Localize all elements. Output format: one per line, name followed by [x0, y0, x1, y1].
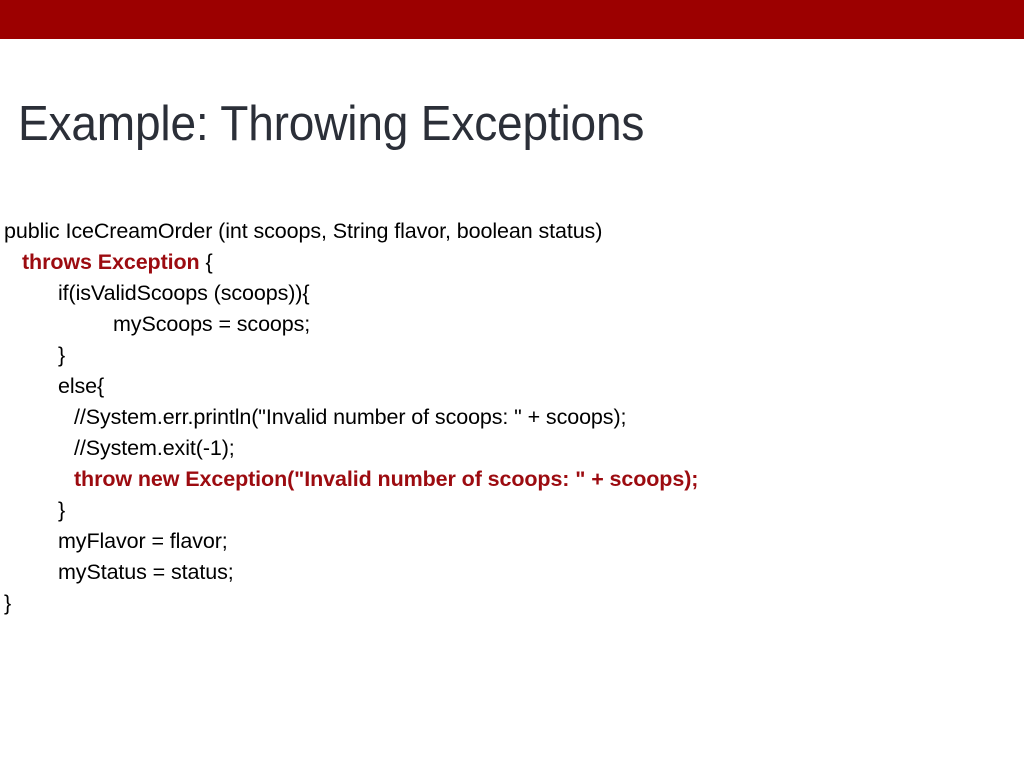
slide-canvas: Example: Throwing Exceptions public IceC…	[0, 0, 1024, 768]
code-token-plain: myFlavor = flavor;	[58, 529, 228, 553]
code-token-plain: }	[4, 591, 11, 615]
code-line: //System.exit(-1);	[0, 433, 1024, 464]
code-token-plain: myScoops = scoops;	[113, 312, 310, 336]
code-token-throw: throw new Exception("Invalid number of s…	[74, 467, 698, 491]
page-title: Example: Throwing Exceptions	[18, 94, 939, 156]
code-line: myStatus = status;	[0, 557, 1024, 588]
code-line: else{	[0, 371, 1024, 402]
code-token-plain: //System.exit(-1);	[74, 436, 235, 460]
header-accent-bar	[0, 0, 1024, 39]
code-line: throws Exception {	[0, 247, 1024, 278]
code-token-plain: }	[58, 343, 65, 367]
code-line: }	[0, 588, 1024, 619]
code-token-plain: }	[58, 498, 65, 522]
code-token-plain: if(isValidScoops (scoops)){	[58, 281, 309, 305]
code-token-plain: //System.err.println("Invalid number of …	[74, 405, 626, 429]
code-line: //System.err.println("Invalid number of …	[0, 402, 1024, 433]
code-line: }	[0, 340, 1024, 371]
code-line: myScoops = scoops;	[0, 309, 1024, 340]
code-token-plain: public IceCreamOrder (int scoops, String…	[4, 219, 602, 243]
code-line: }	[0, 495, 1024, 526]
code-token-keyword: throws Exception	[22, 250, 200, 274]
code-line: myFlavor = flavor;	[0, 526, 1024, 557]
code-token-plain: else{	[58, 374, 104, 398]
code-listing: public IceCreamOrder (int scoops, String…	[0, 216, 1024, 619]
code-line: public IceCreamOrder (int scoops, String…	[0, 216, 1024, 247]
code-token-plain: {	[200, 250, 213, 274]
code-token-plain: myStatus = status;	[58, 560, 234, 584]
code-line: if(isValidScoops (scoops)){	[0, 278, 1024, 309]
code-line: throw new Exception("Invalid number of s…	[0, 464, 1024, 495]
